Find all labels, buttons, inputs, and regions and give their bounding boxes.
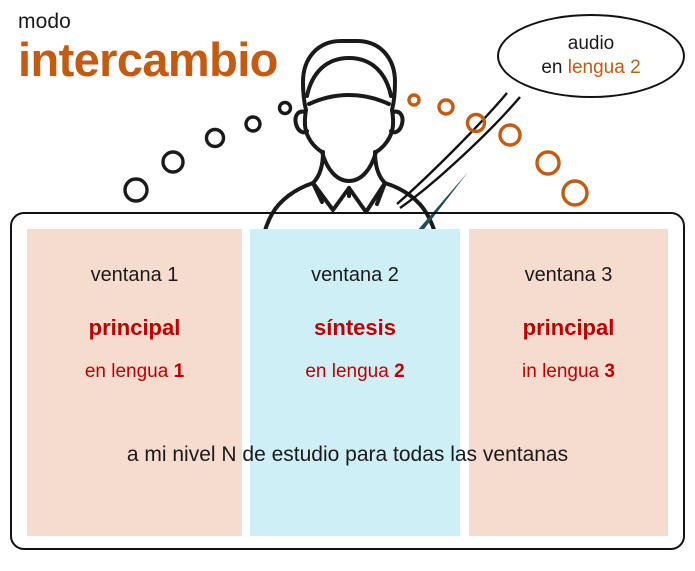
speech-bubble-text: audio en lengua 2 <box>499 16 683 96</box>
black-bubble <box>246 117 260 131</box>
speech-bubble-line-2-accent: lengua 2 <box>568 57 641 78</box>
orange-bubble <box>439 100 453 114</box>
windows-panel <box>10 212 685 550</box>
speech-bubble-line-2-prefix: en <box>541 57 567 78</box>
orange-bubble <box>500 125 520 145</box>
header-block: modo intercambio <box>18 10 348 86</box>
mode-kicker-label: modo <box>18 10 348 33</box>
orange-bubble <box>563 181 587 205</box>
black-bubble <box>163 152 183 172</box>
page-title: intercambio <box>18 35 348 86</box>
panel-footer-note: a mi nivel N de estudio para todas las v… <box>10 443 685 467</box>
orange-bubble <box>537 152 559 174</box>
black-bubble <box>125 179 147 201</box>
black-bubble-group <box>125 103 291 202</box>
speech-bubble-line-2: en lengua 2 <box>541 56 640 80</box>
orange-bubble <box>468 115 485 132</box>
orange-bubble <box>409 95 419 105</box>
black-bubble <box>280 103 291 114</box>
black-bubble <box>207 130 224 147</box>
slide-canvas: modo intercambio <box>0 0 695 571</box>
orange-bubble-group <box>409 95 587 205</box>
speech-bubble: audio en lengua 2 <box>497 14 685 98</box>
speech-bubble-line-1: audio <box>568 32 615 56</box>
speech-bubble-tail <box>397 93 520 208</box>
